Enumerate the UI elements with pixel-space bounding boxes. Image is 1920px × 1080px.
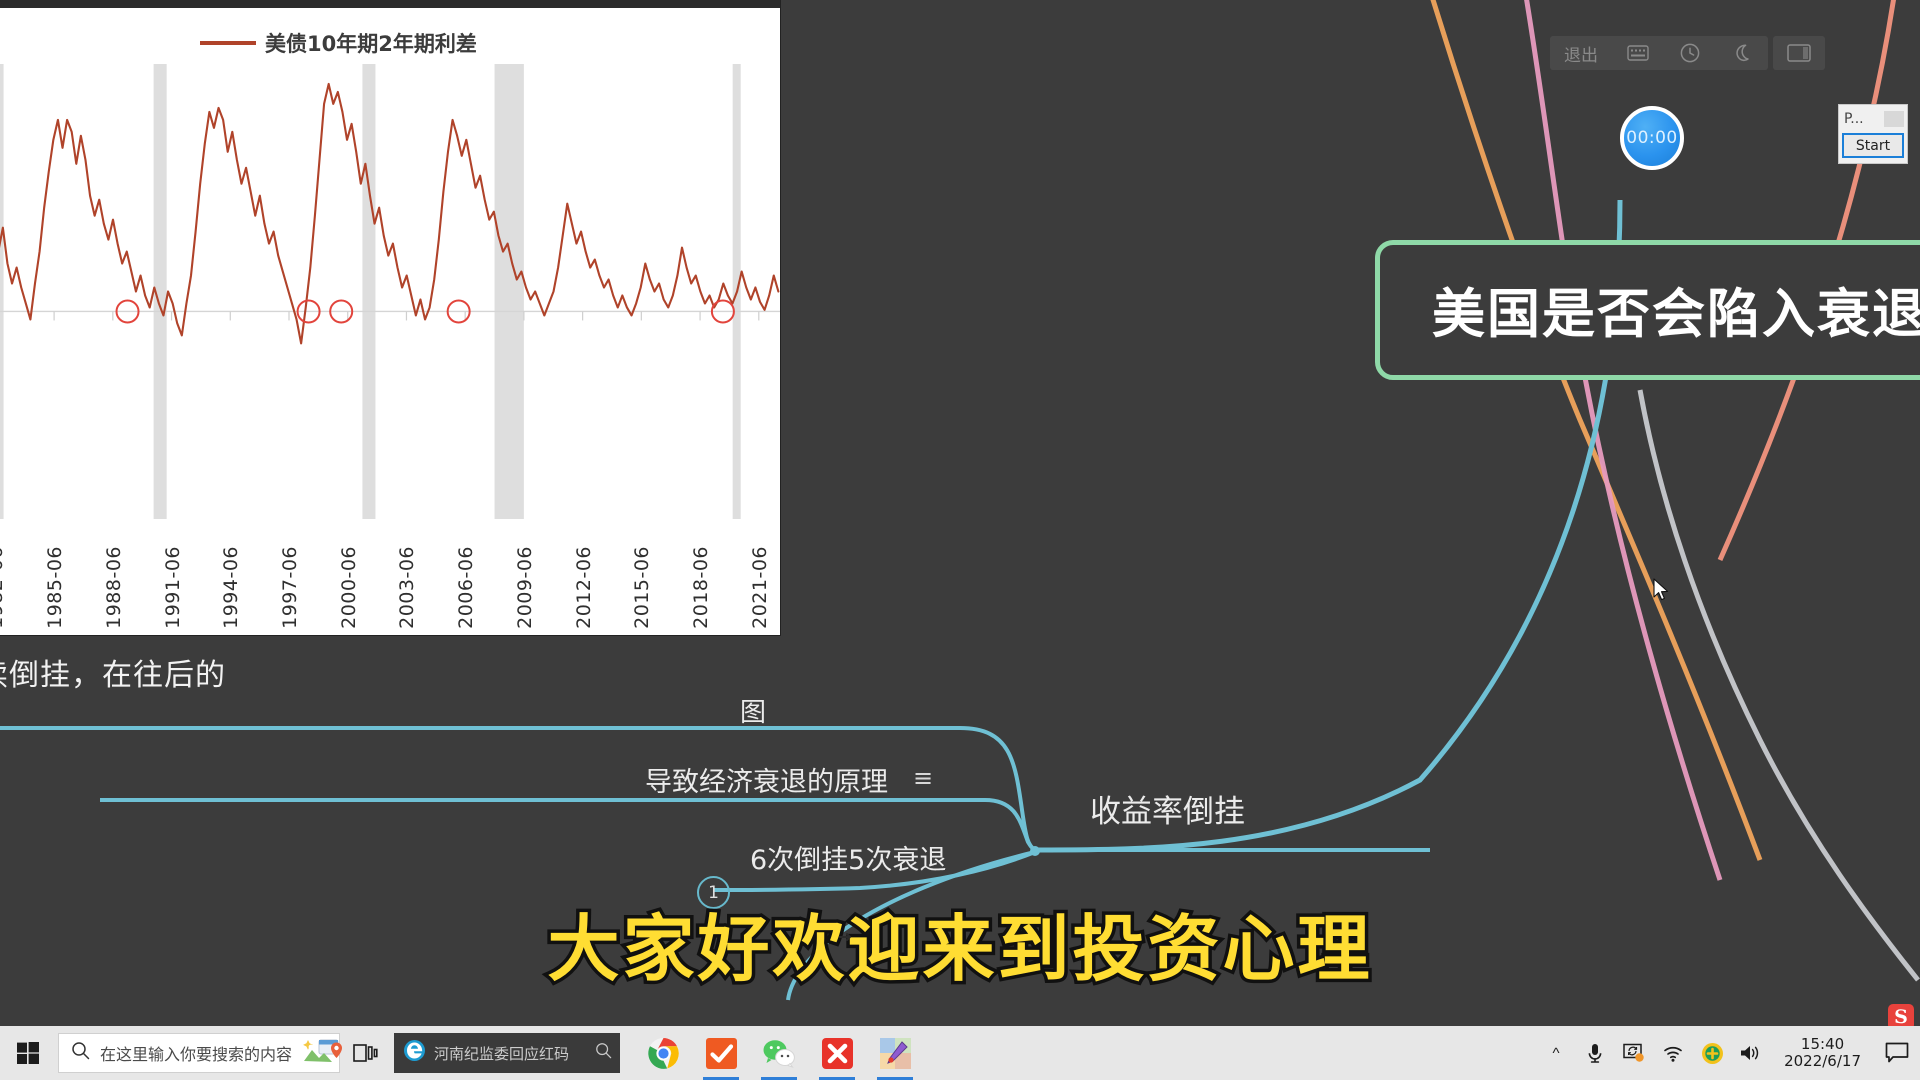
- x-tick-label: 2003-06: [396, 546, 418, 629]
- start-recording-widget[interactable]: P... Start: [1838, 104, 1908, 164]
- microphone-icon[interactable]: [1583, 1041, 1607, 1065]
- chart-plot-area: [0, 64, 780, 519]
- x-tick-label: 1982-06: [0, 546, 7, 629]
- windows-taskbar[interactable]: 在这里输入你要搜索的内容: [0, 1026, 1920, 1080]
- recorder-toolbar[interactable]: 退出: [1550, 36, 1825, 70]
- title-card-text: 美国是否会陷入衰退: [1432, 272, 1920, 348]
- chart-legend: 经济衰退周期 美债10年期2年期利差: [0, 28, 780, 64]
- clock-icon[interactable]: [1664, 36, 1716, 70]
- clipped-sentence: 续倒挂，在往后的: [0, 650, 226, 694]
- taskbar-app-paint-tool[interactable]: [874, 1026, 916, 1080]
- chart-window[interactable]: 经济衰退周期 美债10年期2年期利差 1976-061979-061982-06…: [0, 0, 780, 635]
- x-tick-label: 1997-06: [279, 546, 301, 629]
- update-icon[interactable]: [1700, 1041, 1724, 1065]
- start-button[interactable]: Start: [1842, 133, 1904, 158]
- recession-band: [0, 64, 4, 519]
- recession-band: [495, 64, 524, 519]
- volume-icon[interactable]: [1739, 1041, 1763, 1065]
- keyboard-icon[interactable]: [1612, 36, 1664, 70]
- x-tick-label: 2000-06: [338, 546, 360, 629]
- taskbar-search-box[interactable]: 在这里输入你要搜索的内容: [58, 1033, 340, 1073]
- taskbar-clock[interactable]: 15:40 2022/6/17: [1778, 1036, 1867, 1071]
- clock-time: 15:40: [1784, 1036, 1861, 1053]
- start-widget-title: P...: [1844, 111, 1864, 127]
- news-headline[interactable]: 河南纪监委回应红码: [434, 1043, 588, 1064]
- legend-label-recession: 经济衰退周期: [0, 28, 1, 58]
- x-tick-label: 2012-06: [573, 546, 595, 629]
- mindmap-node-yield[interactable]: 收益率倒挂: [1090, 786, 1245, 831]
- taskbar-app-wechat[interactable]: [758, 1026, 800, 1080]
- search-icon: [71, 1041, 90, 1065]
- exit-button[interactable]: 退出: [1550, 36, 1612, 70]
- recording-timer[interactable]: 00:00: [1620, 106, 1684, 170]
- legend-item-spread: 美债10年期2年期利差: [200, 28, 477, 58]
- windows-start-icon[interactable]: [0, 1026, 56, 1080]
- system-tray: ^ 15:40 2022/6/17: [1544, 1036, 1920, 1071]
- mindmap-note-icon[interactable]: ≡: [913, 764, 932, 792]
- photo-location-icon[interactable]: [302, 1036, 342, 1071]
- recession-band: [362, 64, 375, 519]
- x-tick-label: 2021-06: [749, 546, 771, 629]
- legend-label-spread: 美债10年期2年期利差: [265, 28, 477, 58]
- mindmap-node-cause[interactable]: 导致经济衰退的原理: [645, 760, 888, 799]
- internet-explorer-icon: [402, 1038, 427, 1068]
- task-view-icon[interactable]: [340, 1026, 392, 1080]
- chart-window-titlebar: [0, 0, 780, 8]
- search-input[interactable]: 在这里输入你要搜索的内容: [100, 1041, 292, 1065]
- tray-expand-icon[interactable]: ^: [1544, 1041, 1568, 1065]
- video-subtitle: 大家好欢迎来到投资心理: [0, 890, 1920, 995]
- clock-date: 2022/6/17: [1784, 1053, 1861, 1070]
- chart-x-axis: 1976-061979-061982-061985-061988-061991-…: [0, 520, 780, 635]
- wifi-icon[interactable]: [1661, 1041, 1685, 1065]
- x-tick-label: 1994-06: [220, 546, 242, 629]
- action-center-icon[interactable]: [1882, 1038, 1912, 1068]
- start-widget-titlebar: P...: [1839, 105, 1907, 133]
- spread-line-swatch: [200, 41, 256, 45]
- x-tick-label: 1988-06: [103, 546, 125, 629]
- news-widget[interactable]: 河南纪监委回应红码: [394, 1033, 620, 1073]
- x-tick-label: 2006-06: [455, 546, 477, 629]
- x-tick-label: 2018-06: [690, 546, 712, 629]
- mindmap-node-tu[interactable]: 图: [740, 692, 766, 729]
- taskbar-app-xmind[interactable]: [816, 1026, 858, 1080]
- start-widget-close-icon[interactable]: [1884, 111, 1904, 127]
- panel-icon[interactable]: [1773, 36, 1825, 70]
- taskbar-app-chrome[interactable]: [642, 1026, 684, 1080]
- mindmap-node-six[interactable]: 6次倒挂5次衰退: [750, 838, 946, 877]
- chart-svg: [0, 64, 780, 519]
- taskbar-app-buttons: [642, 1026, 916, 1080]
- news-search-icon[interactable]: [595, 1042, 612, 1064]
- recorder-button-group: 退出: [1550, 36, 1768, 70]
- x-tick-label: 1991-06: [162, 546, 184, 629]
- legend-item-recession: 经济衰退周期: [0, 28, 1, 58]
- moon-icon[interactable]: [1716, 36, 1768, 70]
- screen-share-icon[interactable]: [1622, 1041, 1646, 1065]
- recorder-panel-group: [1773, 36, 1825, 70]
- x-tick-label: 2015-06: [631, 546, 653, 629]
- x-tick-label: 2009-06: [514, 546, 536, 629]
- spread-line: [0, 84, 778, 495]
- taskbar-app-todo-check[interactable]: [700, 1026, 742, 1080]
- title-card[interactable]: 美国是否会陷入衰退: [1375, 240, 1920, 380]
- x-tick-label: 1985-06: [44, 546, 66, 629]
- chart-content: 经济衰退周期 美债10年期2年期利差 1976-061979-061982-06…: [0, 8, 780, 635]
